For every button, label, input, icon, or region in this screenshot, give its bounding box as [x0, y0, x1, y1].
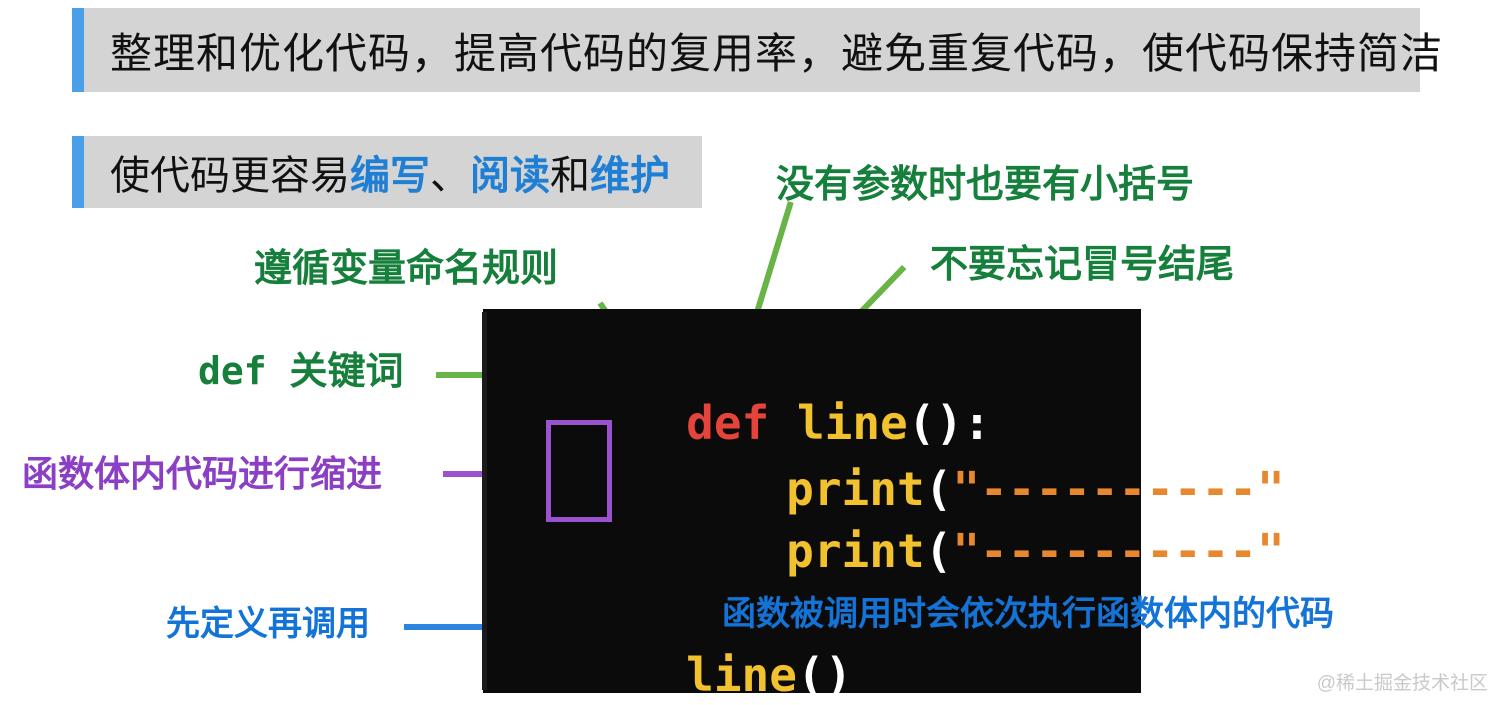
annotation-def-keyword: def 关键词	[198, 352, 404, 390]
token-string-dashes: "----------"	[952, 524, 1284, 578]
annotation-define-before-call: 先定义再调用	[166, 607, 370, 641]
annotation-indent-body: 函数体内代码进行缩进	[22, 456, 382, 492]
token-function-name-line: line	[686, 648, 797, 702]
banner-joiner: 和	[550, 154, 590, 198]
banner-refactor-text: 整理和优化代码，提高代码的复用率，避免重复代码，使代码保持简洁	[84, 20, 1443, 81]
token-function-name-print: print	[786, 524, 924, 578]
slide-canvas: 整理和优化代码，提高代码的复用率，避免重复代码，使代码保持简洁 使代码更容易编写…	[0, 0, 1512, 705]
banner-separator: 、	[430, 154, 470, 198]
annotation-parentheses-required: 没有参数时也要有小括号	[776, 166, 1194, 204]
banner-maintain-prefix: 使代码更容易	[110, 154, 350, 198]
annotation-colon-required: 不要忘记冒号结尾	[930, 246, 1234, 284]
watermark: @稀土掘金技术社区	[1317, 668, 1488, 695]
banner-highlight-read: 阅读	[470, 154, 550, 198]
banner-accent-bar	[72, 8, 84, 92]
banner-accent-bar	[72, 136, 84, 208]
annotation-execution-order: 函数被调用时会依次执行函数体内的代码	[722, 597, 1334, 631]
banner-maintain-text: 使代码更容易编写、阅读和维护	[84, 143, 670, 201]
token-open-paren: (	[925, 524, 953, 578]
annotation-naming-rule: 遵循变量命名规则	[254, 250, 558, 288]
indent-highlight-box	[546, 420, 612, 522]
token-parens: ()	[797, 648, 852, 702]
banner-refactor: 整理和优化代码，提高代码的复用率，避免重复代码，使代码保持简洁	[72, 8, 1420, 92]
banner-highlight-write: 编写	[350, 154, 430, 198]
token-close-paren: )	[1285, 524, 1313, 578]
banner-maintain: 使代码更容易编写、阅读和维护	[72, 136, 702, 208]
banner-highlight-maintain: 维护	[590, 154, 670, 198]
